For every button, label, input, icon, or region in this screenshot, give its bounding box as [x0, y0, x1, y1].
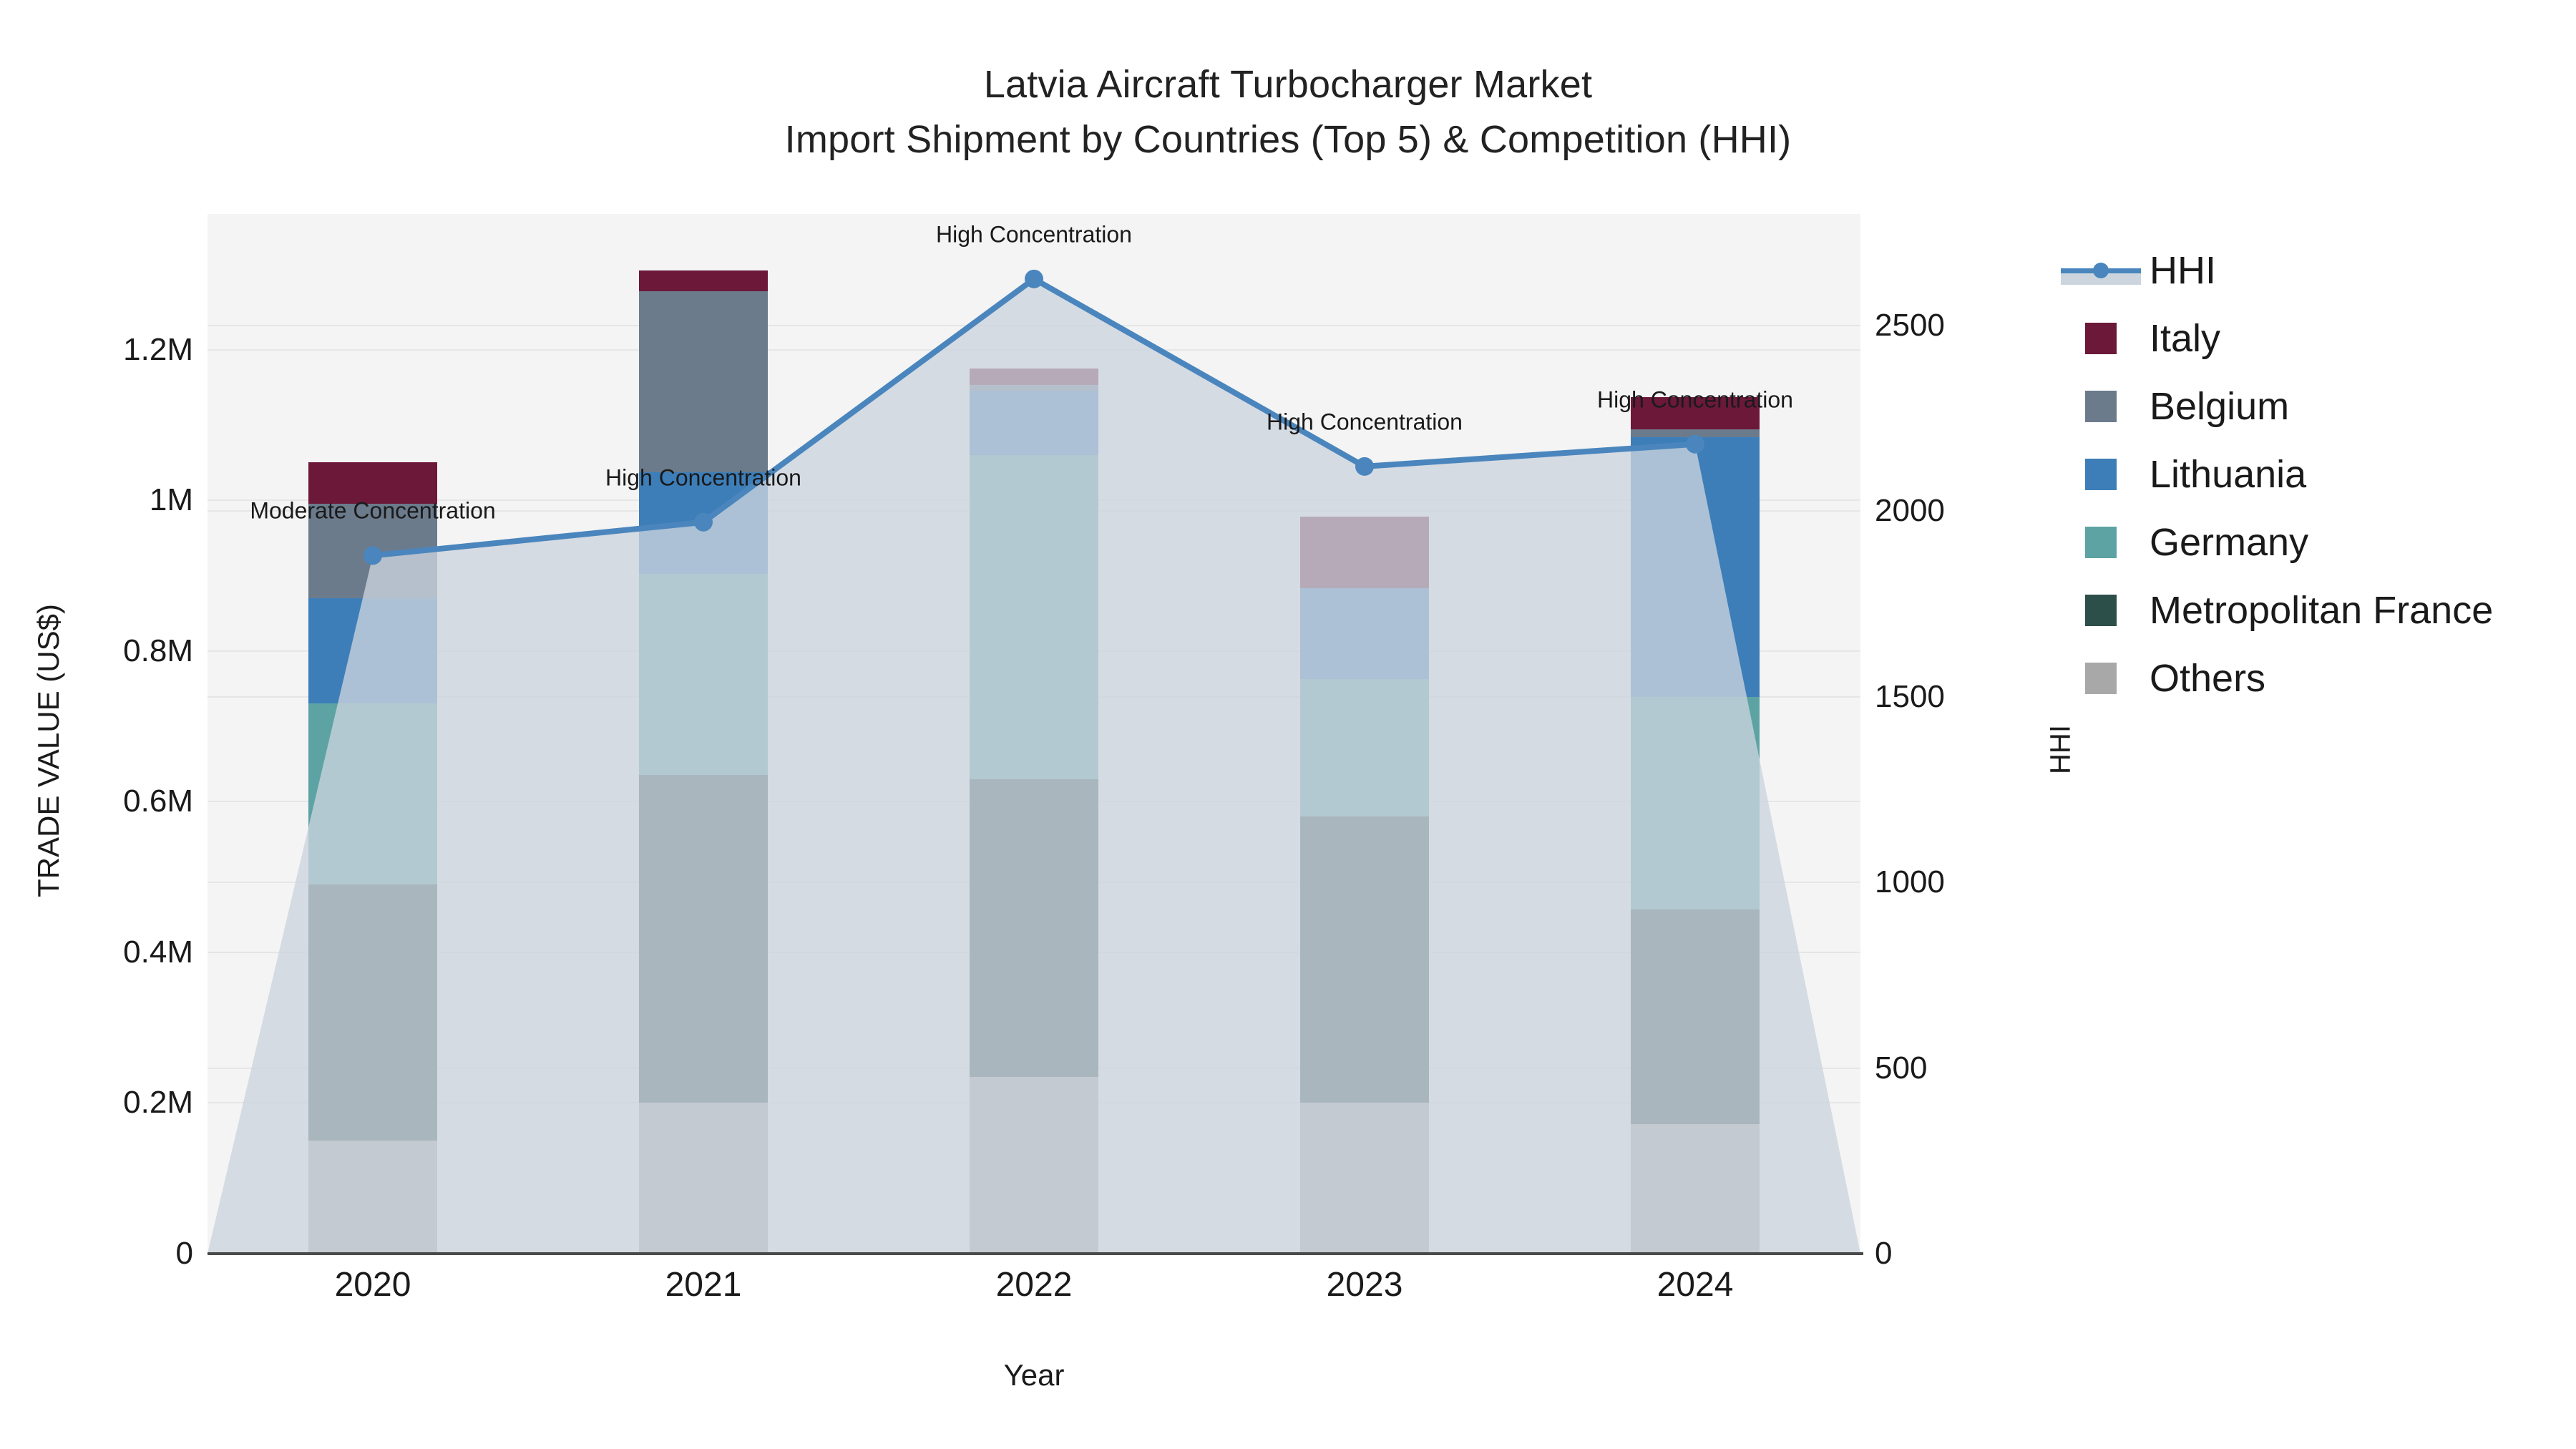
y-axis-ticks-secondary: 05001000150020002500 [1875, 0, 2032, 1449]
legend-color-swatch [2085, 391, 2117, 422]
legend-item-label: Others [2150, 659, 2265, 698]
hhi-marker[interactable] [1355, 457, 1374, 476]
y-tick-label-primary: 0.4M [123, 935, 193, 970]
legend-item-label: Lithuania [2150, 455, 2306, 494]
y-tick-label-secondary: 500 [1875, 1050, 1927, 1086]
concentration-annotation: High Concentration [605, 464, 801, 491]
y-tick-label-secondary: 1500 [1875, 679, 1945, 715]
chart-title-line-2: Import Shipment by Countries (Top 5) & C… [0, 112, 2576, 167]
x-tick-label: 2021 [665, 1265, 742, 1304]
legend-color-swatch [2085, 323, 2117, 354]
y-axis-ticks-primary: 00.2M0.4M0.6M0.8M1M1.2M [29, 0, 193, 1449]
chart-title-line-1: Latvia Aircraft Turbocharger Market [0, 57, 2576, 112]
hhi-marker[interactable] [694, 513, 713, 532]
legend-item[interactable]: HHI [2061, 236, 2493, 304]
hhi-line-series [208, 214, 1860, 1254]
x-tick-label: 2020 [335, 1265, 411, 1304]
legend-color-swatch [2085, 663, 2117, 694]
hhi-marker[interactable] [1686, 435, 1704, 454]
legend-item-label: Metropolitan France [2150, 591, 2493, 630]
y-tick-label-secondary: 2000 [1875, 493, 1945, 529]
hhi-area-fill [208, 279, 1860, 1254]
y-tick-label-secondary: 0 [1875, 1236, 1892, 1272]
chart-root: Latvia Aircraft Turbocharger Market Impo… [0, 0, 2576, 1449]
legend-item[interactable]: Lithuania [2061, 440, 2493, 508]
plot-area: Moderate ConcentrationHigh Concentration… [208, 214, 1860, 1254]
legend-color-swatch [2085, 527, 2117, 558]
legend-item[interactable]: Belgium [2061, 372, 2493, 440]
concentration-annotation: High Concentration [1597, 386, 1793, 413]
concentration-annotation: High Concentration [936, 221, 1132, 248]
y-tick-label-primary: 1M [150, 482, 193, 518]
legend-color-swatch [2085, 595, 2117, 626]
legend-line-marker [2093, 263, 2109, 278]
chart-legend: HHIItalyBelgiumLithuaniaGermanyMetropoli… [2061, 236, 2493, 712]
x-axis-line [208, 1252, 1863, 1255]
legend-item-label: Italy [2150, 319, 2220, 358]
concentration-annotation: Moderate Concentration [250, 498, 495, 525]
hhi-marker[interactable] [364, 546, 382, 565]
x-tick-label: 2022 [996, 1265, 1073, 1304]
hhi-marker[interactable] [1025, 270, 1043, 288]
x-tick-label: 2023 [1327, 1265, 1403, 1304]
legend-color-swatch [2085, 459, 2117, 490]
y-tick-label-primary: 0 [176, 1236, 193, 1272]
chart-title: Latvia Aircraft Turbocharger Market Impo… [0, 57, 2576, 167]
legend-item[interactable]: Italy [2061, 304, 2493, 372]
x-tick-label: 2024 [1657, 1265, 1734, 1304]
legend-item[interactable]: Germany [2061, 508, 2493, 576]
concentration-annotation: High Concentration [1267, 409, 1463, 435]
x-axis-title: Year [0, 1358, 2068, 1392]
legend-item[interactable]: Others [2061, 644, 2493, 712]
y-tick-label-primary: 1.2M [123, 332, 193, 368]
y-tick-label-primary: 0.8M [123, 633, 193, 669]
legend-item-label: HHI [2150, 251, 2216, 290]
y-tick-label-secondary: 2500 [1875, 308, 1945, 343]
y-tick-label-secondary: 1000 [1875, 864, 1945, 900]
legend-item[interactable]: Metropolitan France [2061, 576, 2493, 644]
legend-item-label: Germany [2150, 523, 2308, 562]
legend-item-label: Belgium [2150, 387, 2289, 426]
y-tick-label-primary: 0.6M [123, 784, 193, 819]
legend-line-icon [2061, 255, 2141, 286]
y-tick-label-primary: 0.2M [123, 1085, 193, 1121]
